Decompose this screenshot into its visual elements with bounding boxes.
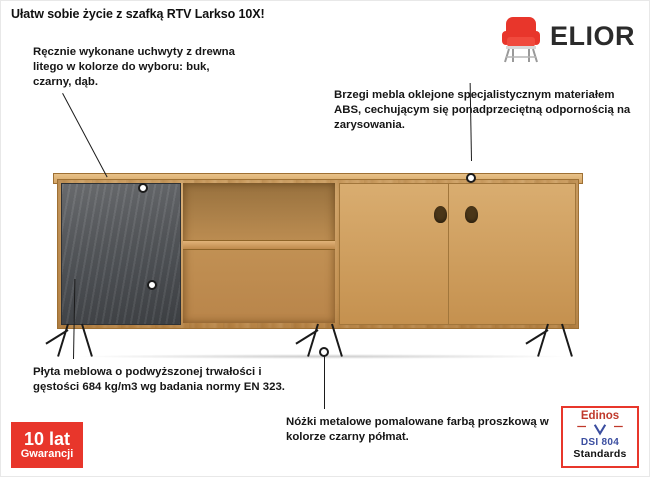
- bay-inner-shadow: [183, 183, 335, 240]
- certificate-standard-label: Standards: [563, 448, 637, 460]
- certificate-standard-code: DSI 804: [563, 437, 637, 448]
- callout-board-density: Płyta meblowa o podwyższonej trwałości i…: [33, 365, 295, 395]
- brand-name: ELIOR: [550, 23, 635, 54]
- callout-dot-metal-legs: [319, 347, 329, 357]
- callout-metal-legs: Nóżki metalowe pomalowane farbą proszkow…: [286, 415, 576, 445]
- warranty-badge: 10 lat Gwarancji: [11, 422, 83, 468]
- cabinet-left-door: [61, 183, 181, 325]
- product-infographic-page: Ułatw sobie życie z szafką RTV Larkso 10…: [0, 0, 650, 477]
- check-mark-icon: [563, 423, 637, 437]
- brand-logo: ELIOR: [498, 13, 635, 63]
- warranty-label: Gwarancji: [21, 449, 74, 461]
- certificate-badge: Edinos DSI 804 Standards: [561, 406, 639, 468]
- door-handle-icon: [465, 206, 478, 223]
- leader-line-metal-legs: [324, 351, 325, 409]
- certificate-brand: Edinos: [563, 410, 637, 423]
- callout-handles: Ręcznie wykonane uchwyty z drewna litego…: [33, 45, 248, 90]
- callout-dot-abs-edges: [466, 173, 476, 183]
- cabinet-right-door-b: [448, 183, 576, 325]
- door-handle-icon: [434, 206, 447, 223]
- cabinet-right-door-a: [339, 183, 449, 325]
- callout-dot-handles: [138, 183, 148, 193]
- cabinet-open-shelf-bay: [183, 183, 335, 323]
- callout-dot-board-density: [147, 280, 157, 290]
- callout-abs-edges: Brzegi mebla oklejone specjalistycznym m…: [334, 88, 634, 133]
- page-title: Ułatw sobie życie z szafką RTV Larkso 10…: [11, 7, 265, 21]
- product-image: [27, 161, 587, 356]
- shelf-board: [183, 240, 335, 250]
- warranty-years: 10 lat: [24, 430, 70, 449]
- armchair-icon: [498, 13, 544, 63]
